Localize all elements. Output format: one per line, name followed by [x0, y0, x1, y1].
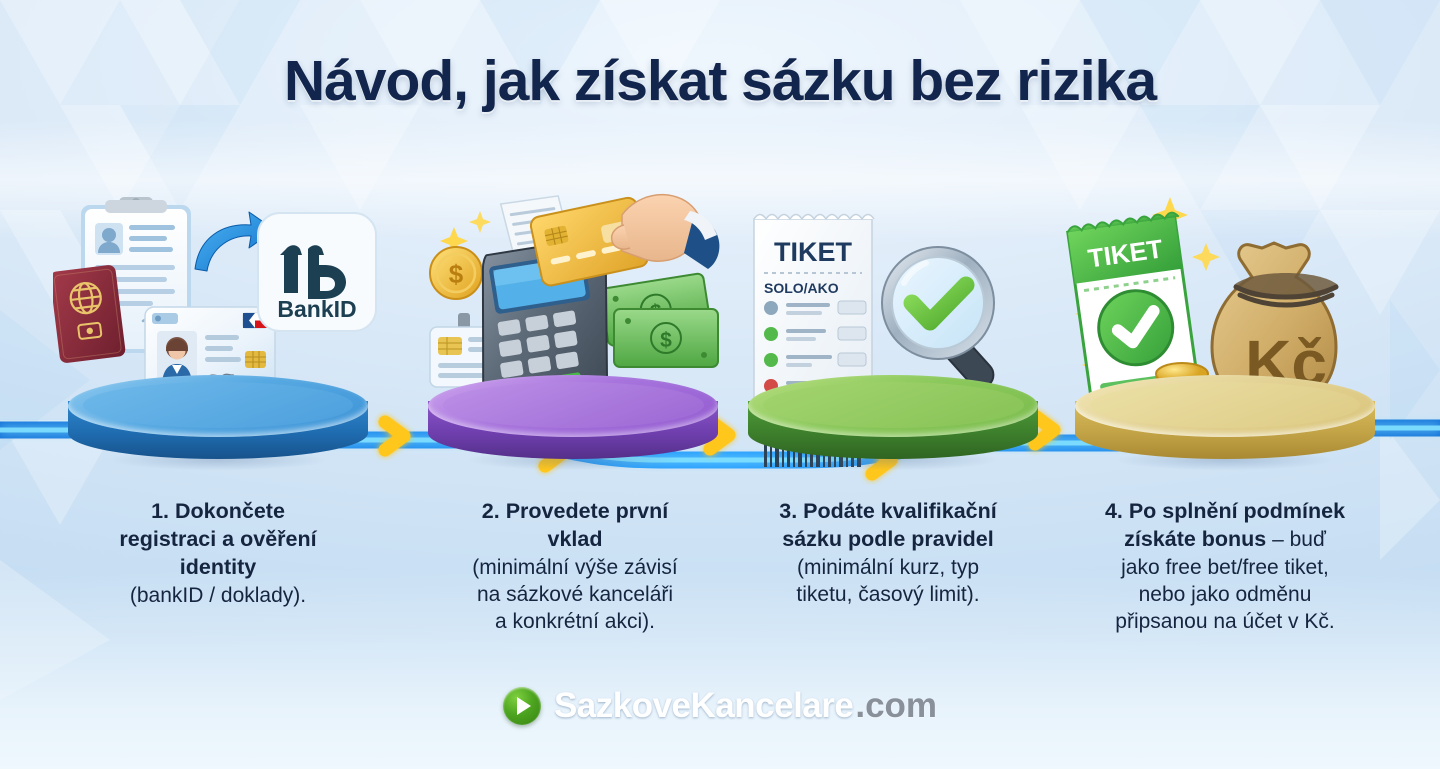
caption-3-detail-2: tiketu, časový limit).: [742, 581, 1034, 608]
podium-step-4: [1075, 375, 1375, 471]
caption-3-line-1: 3. Podáte kvalifikační: [742, 498, 1034, 526]
podium-step-2: [428, 375, 718, 471]
logo-tld-text: .com: [855, 686, 937, 726]
caption-4-line-2: získáte bonus – buď: [1060, 526, 1390, 554]
caption-2-detail-2: na sázkové kanceláři: [430, 581, 720, 608]
caption-4-normal-tail: – buď: [1266, 528, 1326, 551]
caption-4-detail-1: jako free bet/free tiket,: [1060, 554, 1390, 581]
podium-step-1: [68, 375, 368, 471]
caption-4-detail-2: nebo jako odměnu: [1060, 581, 1390, 608]
podium-step-3: [748, 375, 1038, 471]
caption-2-detail-1: (minimální výše závisí: [430, 554, 720, 581]
bankid-card: BankID: [258, 213, 376, 331]
ticket-title: TIKET: [774, 237, 853, 267]
caption-step-4: 4. Po splnění podmínek získáte bonus – b…: [1060, 498, 1390, 636]
caption-3-line-2: sázku podle pravidel: [742, 526, 1034, 554]
caption-step-2: 2. Provedete první vklad (minimální výše…: [430, 498, 720, 636]
play-circle-icon: [503, 687, 541, 725]
caption-1-line-3: identity: [78, 554, 358, 582]
svg-text:$: $: [449, 259, 464, 289]
page-title: Návod, jak získat sázku bez rizika: [0, 48, 1440, 114]
caption-3-detail-1: (minimální kurz, typ: [742, 554, 1034, 581]
captions-row: 1. Dokončete registraci a ověření identi…: [0, 498, 1440, 668]
caption-2-line-1: 2. Provedete první: [430, 498, 720, 526]
ticket-subtitle: SOLO/AKO: [764, 280, 839, 296]
bankid-wordmark: BankID: [277, 296, 356, 322]
magnifier-with-check: [882, 247, 999, 393]
caption-step-3: 3. Podáte kvalifikační sázku podle pravi…: [742, 498, 1034, 608]
caption-2-detail-3: a konkrétní akci).: [430, 608, 720, 635]
caption-1-line-1: 1. Dokončete: [78, 498, 358, 526]
step-1: BankID: [53, 185, 383, 485]
caption-1-detail-1: (bankID / doklady).: [78, 582, 358, 609]
caption-4-detail-3: připsanou na účet v Kč.: [1060, 608, 1390, 635]
chip-icon: [245, 351, 266, 368]
infographic-canvas: Návod, jak získat sázku bez rizika: [0, 0, 1440, 769]
step-3: TIKET SOLO/AKO: [728, 185, 1058, 485]
gold-coin: $: [430, 247, 482, 299]
passport: [53, 264, 126, 363]
svg-text:$: $: [660, 329, 672, 352]
banknotes: $ $: [600, 273, 718, 367]
caption-2-line-2: vklad: [430, 526, 720, 554]
logo-brand-text: SazkoveKancelare: [554, 686, 853, 726]
step-2: $: [408, 185, 738, 485]
caption-4-bold-tail: získáte bonus: [1124, 527, 1266, 551]
caption-step-1: 1. Dokončete registraci a ověření identi…: [78, 498, 358, 609]
site-logo[interactable]: SazkoveKancelare .com: [0, 686, 1440, 726]
step-4: TIKET Kč: [1060, 185, 1390, 485]
caption-1-line-2: registraci a ověření: [78, 526, 358, 554]
caption-4-line-1: 4. Po splnění podmínek: [1060, 498, 1390, 526]
steps-row: BankID: [0, 185, 1440, 485]
